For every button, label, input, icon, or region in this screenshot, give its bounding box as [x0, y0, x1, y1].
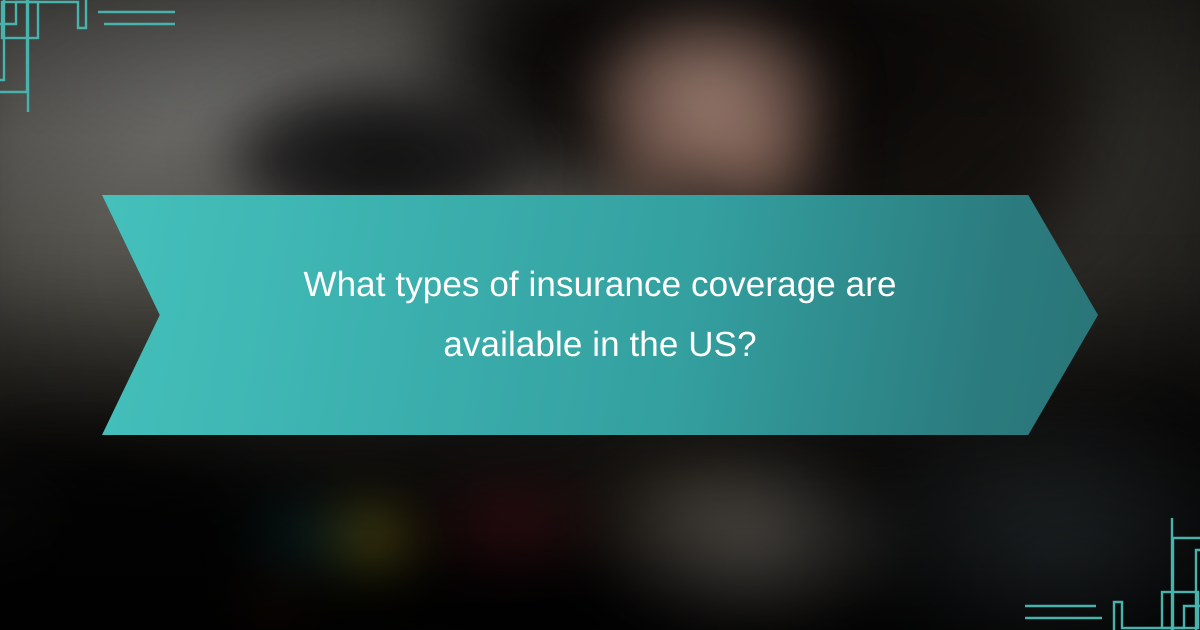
headline-text: What types of insurance coverage are ava… [270, 255, 930, 375]
screenshot-canvas: What types of insurance coverage are ava… [0, 0, 1200, 630]
headline-banner: What types of insurance coverage are ava… [102, 195, 1098, 435]
